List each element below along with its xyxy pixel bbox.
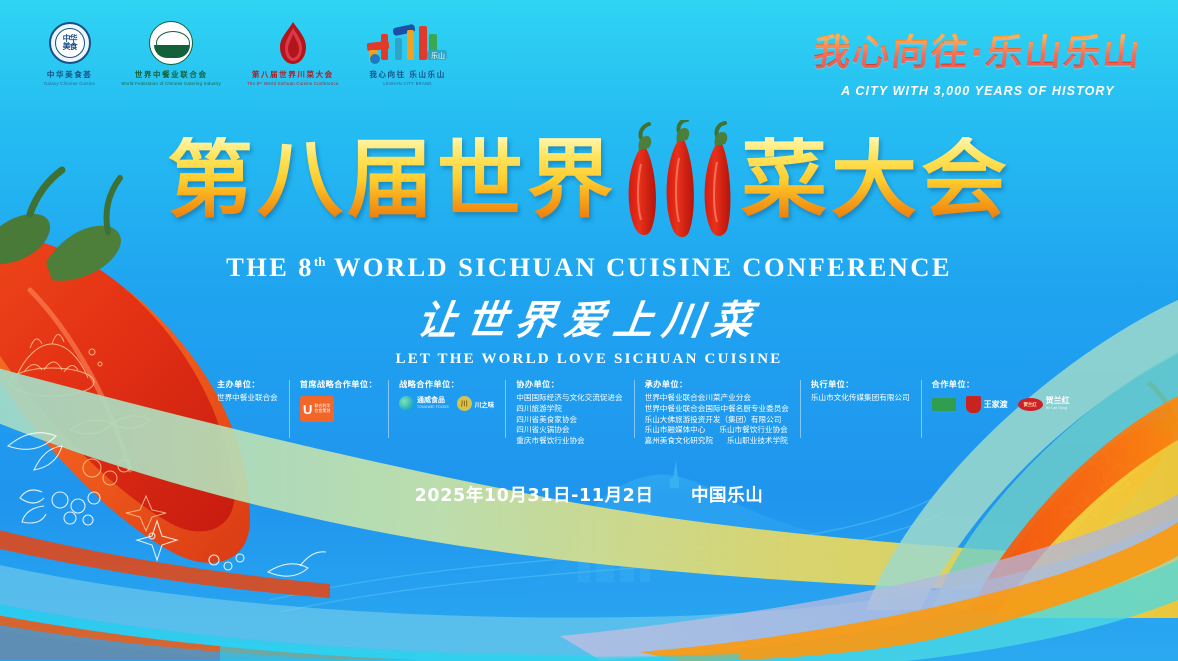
leshan-hill-silhouette xyxy=(520,460,1178,600)
tongwei-leaf-icon xyxy=(399,396,414,411)
org-line: 重庆市餐饮行业协会 xyxy=(516,436,622,447)
org-logo-group: U 联合利华 饮食策划 xyxy=(300,396,377,422)
org-col-co-organizer: 协办单位： 中国国际经济与文化交流促进会 四川旅游学院 四川省美食家协会 四川省… xyxy=(505,378,633,447)
tagline-en: LET THE WORLD LOVE SICHUAN CUISINE xyxy=(0,351,1178,368)
org-col-host: 主办单位： 世界中餐业联合会 xyxy=(206,378,289,404)
org-line: 世界中餐业联合会川菜产业分会 xyxy=(645,393,789,404)
header-logo-row: 中华美食 中华美食荟 Galaxy Chinese Cuisine 世界中餐业联… xyxy=(44,20,451,86)
org-col-chief-strategic-partner: 首席战略合作单位： U 联合利华 饮食策划 xyxy=(289,378,388,422)
chuanzhiwei-logo: 川 川之味 xyxy=(457,396,495,411)
org-line: 乐山市文化传媒集团有限公司 xyxy=(811,393,910,404)
org-col-organizer: 承办单位： 世界中餐业联合会川菜产业分会 世界中餐业联合会国际中餐名厨专业委员会… xyxy=(634,378,800,447)
tongwei-foods-logo: 通威食品 TONGWEI FOODS xyxy=(399,396,449,411)
chili-3 xyxy=(705,123,731,236)
main-title-en: THE 8th WORLD SICHUAN CUISINE CONFERENCE xyxy=(0,252,1178,283)
logo-label-en: The 8ᵗʰ World Sichuan Cuisine Conference xyxy=(247,81,339,86)
org-col-executor: 执行单位： 乐山市文化传媒集团有限公司 xyxy=(800,378,921,404)
logo-china-cuisine: 中华美食 中华美食荟 Galaxy Chinese Cuisine xyxy=(44,20,95,86)
food-lineart-right xyxy=(1021,451,1130,570)
city-slogan-block: 我心向往·乐山乐山 A CITY WITH 3,000 YEARS OF HIS… xyxy=(814,22,1142,98)
conference-poster: 中华美食 中华美食荟 Galaxy Chinese Cuisine 世界中餐业联… xyxy=(0,0,1178,661)
logo-label-en: Galaxy Chinese Cuisine xyxy=(44,81,95,86)
unilever-food-solutions-logo: U 联合利华 饮食策划 xyxy=(300,396,334,422)
org-line: 中国国际经济与文化交流促进会 xyxy=(516,393,622,404)
org-heading: 战略合作单位： xyxy=(399,378,494,390)
right-gold-ribbon xyxy=(994,440,1178,618)
title-en-rest: WORLD SICHUAN CUISINE CONFERENCE xyxy=(325,252,951,282)
org-heading: 承办单位： xyxy=(645,378,789,390)
globe-icon xyxy=(149,20,193,66)
title-part-one: 第八届世界 xyxy=(167,137,617,223)
unilever-logo-label: 联合利华 饮食策划 xyxy=(314,404,330,413)
city-slogan-en: A CITY WITH 3,000 YEARS OF HISTORY xyxy=(814,84,1142,98)
chili-pepper-chuan-character xyxy=(619,120,739,240)
org-heading: 合作单位： xyxy=(932,378,1082,390)
event-dateline: 2025年10月31日-11月2日 中国乐山 xyxy=(0,482,1178,507)
org-line: 乐山大佛旅游投资开发（集团）有限公司 xyxy=(645,415,789,426)
logo-label-en: LESHAN CITY BRAND xyxy=(383,81,431,86)
tagline-cn: 让世界爱上川菜 xyxy=(413,288,764,346)
wangjiadu-mark-icon xyxy=(966,396,981,413)
main-title-block: 第八届世界 xyxy=(0,120,1178,283)
wangjiadu-logo: 王家渡 xyxy=(966,396,1008,413)
title-en-prefix: THE 8 xyxy=(226,252,314,282)
org-line: 四川旅游学院 xyxy=(516,404,622,415)
circular-seal-icon: 中华美食 xyxy=(49,20,91,66)
chili-2 xyxy=(667,120,694,237)
logo-leshan-brand: 乐山 我心向往 乐山乐山 LESHAN CITY BRAND xyxy=(365,20,451,86)
logo-conference-flame: 第八届世界川菜大会 The 8ᵗʰ World Sichuan Cuisine … xyxy=(247,20,339,86)
unilever-u-icon: U xyxy=(303,403,312,416)
organizer-strip: 主办单位： 世界中餐业联合会 首席战略合作单位： U 联合利华 饮食策划 战略合… xyxy=(206,378,1148,447)
org-col-partners: 合作单位： 王家渡 贺兰红 贺兰红 He Lan Hong xyxy=(921,378,1093,413)
chili-1 xyxy=(629,124,656,235)
bottom-ribbon-cyan xyxy=(0,560,1178,661)
logo-label-en: World Federation of Chinese Catering Ind… xyxy=(121,81,221,86)
logo-label-cn: 第八届世界川菜大会 xyxy=(252,69,334,80)
tagline-block: 让世界爱上川菜 LET THE WORLD LOVE SICHUAN CUISI… xyxy=(0,288,1178,368)
title-en-ordinal: th xyxy=(314,254,326,269)
org-col-strategic-partner: 战略合作单位： 通威食品 TONGWEI FOODS 川 川之味 xyxy=(388,378,505,411)
bottom-ribbon-orange xyxy=(640,522,1178,661)
gold-seal-icon: 川 xyxy=(457,396,472,411)
logo-label-cn: 世界中餐业联合会 xyxy=(135,69,208,80)
event-location: 中国乐山 xyxy=(691,486,763,506)
logo-label-cn: 我心向往 乐山乐山 xyxy=(369,69,445,80)
org-line: 世界中餐业联合会国际中餐名厨专业委员会 xyxy=(645,404,789,415)
helanhong-seal-icon: 贺兰红 xyxy=(1018,398,1043,411)
org-heading: 执行单位： xyxy=(811,378,910,390)
city-slogan-cn: 我心向往·乐山乐山 xyxy=(811,22,1145,76)
main-title-cn: 第八届世界 xyxy=(167,120,1011,240)
org-line: 世界中餐业联合会 xyxy=(217,393,278,404)
svg-text:乐山: 乐山 xyxy=(431,51,445,60)
bottom-ribbon-lightblue xyxy=(0,516,1178,655)
org-line-pair: 乐山市融媒体中心 乐山市餐饮行业协会 xyxy=(645,425,789,436)
bottom-ribbon-purple xyxy=(560,494,1178,660)
org-heading: 协办单位： xyxy=(516,378,622,390)
logo-world-federation: 世界中餐业联合会 World Federation of Chinese Cat… xyxy=(121,20,221,86)
org-line-pair: 嘉州美食文化研究院 乐山职业技术学院 xyxy=(645,436,789,447)
org-heading: 主办单位： xyxy=(217,378,278,390)
org-line: 四川省火锅协会 xyxy=(516,425,622,436)
org-heading: 首席战略合作单位： xyxy=(300,378,377,390)
river-lines xyxy=(270,500,944,612)
org-line: 四川省美食家协会 xyxy=(516,415,622,426)
logo-label-cn: 中华美食荟 xyxy=(47,69,93,80)
partner-green-logo xyxy=(932,398,956,411)
leshan-logo-icon: 乐山 xyxy=(365,20,451,66)
title-part-two: 菜大会 xyxy=(741,137,1011,223)
bottom-ribbon-red-left xyxy=(0,520,330,598)
helanhong-logo: 贺兰红 贺兰红 He Lan Hong xyxy=(1018,397,1070,412)
flame-icon xyxy=(273,20,313,66)
org-logo-group: 通威食品 TONGWEI FOODS 川 川之味 xyxy=(399,396,494,411)
org-logo-group: 王家渡 贺兰红 贺兰红 He Lan Hong xyxy=(932,396,1082,413)
event-date: 2025年10月31日-11月2日 xyxy=(415,486,654,506)
green-brand-icon xyxy=(932,398,956,411)
skyline-silhouette xyxy=(578,512,650,582)
